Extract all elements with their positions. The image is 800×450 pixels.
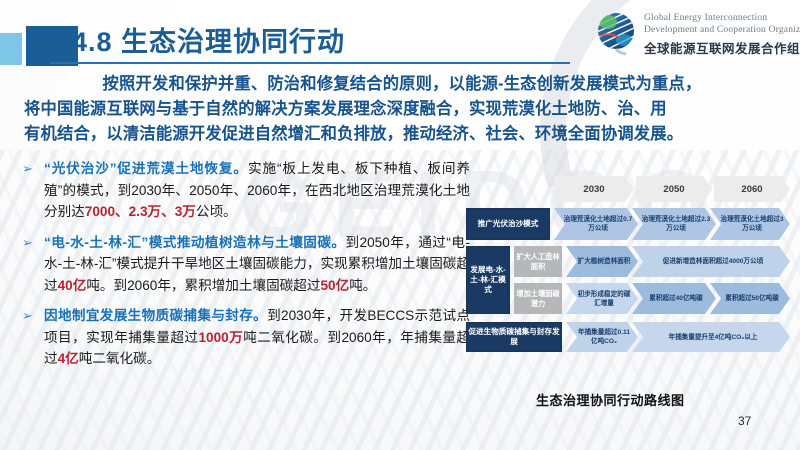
bullet-1-text-post: 公顷。 (196, 204, 237, 219)
roadmap-row-2-lane-2-cell-2050: 累积超过40亿吨碳 (632, 283, 716, 314)
bullet-3-text-post: 吨二氧化碳。 (79, 351, 161, 366)
bullet-1-body: “光伏治沙”促进荒漠土地恢复。实施“板上发电、板下种植、板间养殖”的模式，到20… (18, 158, 470, 223)
roadmap-row-3-label: 促进生物质碳捕集与封存发展 (466, 322, 562, 352)
bullet-item-3: ➢ 因地制宜发展生物质碳捕集与封存。到2030年，开发BECCS示范试点项目，实… (18, 305, 470, 370)
roadmap-row-3-cell-2030: 年捕集量超过0.11亿吨CO₂ (566, 322, 638, 352)
roadmap-caption: 生态治理协同行动路线图 (536, 390, 685, 409)
roadmap-row-1-cell-2050: 治理荒漠化土地超过2.3万公顷 (632, 208, 716, 240)
bullet-3-body: 因地制宜发展生物质碳捕集与封存。到2030年，开发BECCS示范试点项目，实现年… (18, 305, 470, 370)
year-chip-2030: 2030 (554, 176, 634, 202)
roadmap-row-2-lane-1-sublabel: 扩大人工造林面积 (514, 246, 562, 277)
logo-cn: 全球能源互联网发展合作组织 (644, 38, 800, 57)
roadmap-row-1-cell-2030: 治理荒漠化土地超过0.7万公顷 (554, 208, 638, 240)
slide-root: GEIDCO 4.8 生态治理协同行动 (0, 0, 800, 450)
roadmap-row-2-lane-1-cell-2030: 扩大植树造林面积 (566, 246, 638, 277)
roadmap-row-3-cell-2050-2060: 年捕集量提升至4亿吨CO₂以上 (632, 322, 790, 352)
slide-header: 4.8 生态治理协同行动 (0, 0, 800, 70)
year-chip-2050: 2050 (636, 176, 712, 202)
bullet-list: ➢ “光伏治沙”促进荒漠土地恢复。实施“板上发电、板下种植、板间养殖”的模式，到… (18, 158, 470, 379)
bullet-2-lead: “电-水-土-林-汇”模式推动植树造林与土壤固碳。 (44, 235, 345, 250)
intro-line-3: 有机结合，以清洁能源开发促进自然增汇和负排放，推动经济、社会、环境全面协调发展。 (24, 122, 780, 147)
bullet-3-lead: 因地制宜发展生物质碳捕集与封存。 (44, 308, 267, 323)
page-title: 4.8 生态治理协同行动 (72, 20, 345, 59)
bullet-3-highlight-1: 1000万 (198, 330, 243, 345)
roadmap-row-2: 发展电-水-土-林-汇模式 扩大人工造林面积 扩大植树造林面积 促进新增造林面积… (466, 246, 790, 314)
intro-paragraph: 按照开发和保护并重、防治和修复结合的原则，以能源-生态创新发展模式为重点， 将中… (24, 72, 780, 147)
bullet-item-1: ➢ “光伏治沙”促进荒漠土地恢复。实施“板上发电、板下种植、板间养殖”的模式，到… (18, 158, 470, 223)
geidco-globe-icon (594, 10, 640, 56)
intro-line-2: 将中国能源互联网与基于自然的解决方案发展理念深度融合，实现荒漠化土地防、治、用 (24, 97, 780, 122)
year-chip-2060: 2060 (714, 176, 790, 202)
roadmap-row-2-lane-1-cell-2050-2060: 促进新增造林面积超过4000万公顷 (632, 246, 790, 277)
header-underline (50, 62, 570, 64)
intro-line-1: 按照开发和保护并重、防治和修复结合的原则，以能源-生态创新发展模式为重点， (24, 72, 780, 97)
arrow-bullet-icon: ➢ (22, 235, 33, 251)
bullet-2-body: “电-水-土-林-汇”模式推动植树造林与土壤固碳。到2050年，通过“电-水-土… (18, 232, 470, 297)
bullet-1-lead: “光伏治沙”促进荒漠土地恢复。 (44, 161, 248, 176)
bullet-item-2: ➢ “电-水-土-林-汇”模式推动植树造林与土壤固碳。到2050年，通过“电-水… (18, 232, 470, 297)
logo-en-line1: Global Energy Interconnection (644, 12, 800, 24)
roadmap-row-3: 促进生物质碳捕集与封存发展 年捕集量超过0.11亿吨CO₂ 年捕集量提升至4亿吨… (466, 322, 790, 352)
header-accent-square-dark (26, 26, 78, 66)
bullet-2-highlight-1: 40亿 (58, 278, 87, 293)
page-number: 37 (738, 414, 751, 428)
bullet-2-text-post: 吨。 (349, 278, 376, 293)
header-accent-square-light (0, 33, 22, 65)
geidco-logo-text: Global Energy Interconnection Developmen… (644, 12, 800, 57)
roadmap-row-1-label: 推广光伏治沙模式 (466, 208, 550, 240)
roadmap-diagram: 2030 2050 2060 推广光伏治沙模式 治理荒漠化土地超过0.7万公顷 … (466, 176, 790, 382)
roadmap-row-2-label: 发展电-水-土-林-汇模式 (466, 246, 510, 314)
bullet-1-highlight: 7000、2.3万、3万 (85, 204, 196, 219)
bullet-2-text-mid: 吨。到2060年，累积增加土壤固碳超过 (86, 278, 320, 293)
arrow-bullet-icon: ➢ (22, 308, 33, 324)
roadmap-row-1-cell-2060: 治理荒漠化土地超过3万公顷 (710, 208, 790, 240)
bullet-3-highlight-2: 4亿 (58, 351, 79, 366)
bullet-2-highlight-2: 50亿 (320, 278, 349, 293)
roadmap-row-2-lane-2-cell-2060: 累积超过50亿吨碳 (710, 283, 790, 314)
roadmap-row-1: 推广光伏治沙模式 治理荒漠化土地超过0.7万公顷 治理荒漠化土地超过2.3万公顷… (466, 208, 790, 240)
roadmap-year-header: 2030 2050 2060 (554, 176, 790, 202)
arrow-bullet-icon: ➢ (22, 161, 33, 177)
logo-en-line2: Development and Cooperation Organization (644, 24, 800, 36)
roadmap-row-2-lane-2-cell-2030: 初步形成稳定的碳汇增量 (566, 283, 638, 314)
roadmap-row-2-lane-2-sublabel: 增加土壤固碳潜力 (514, 283, 562, 314)
